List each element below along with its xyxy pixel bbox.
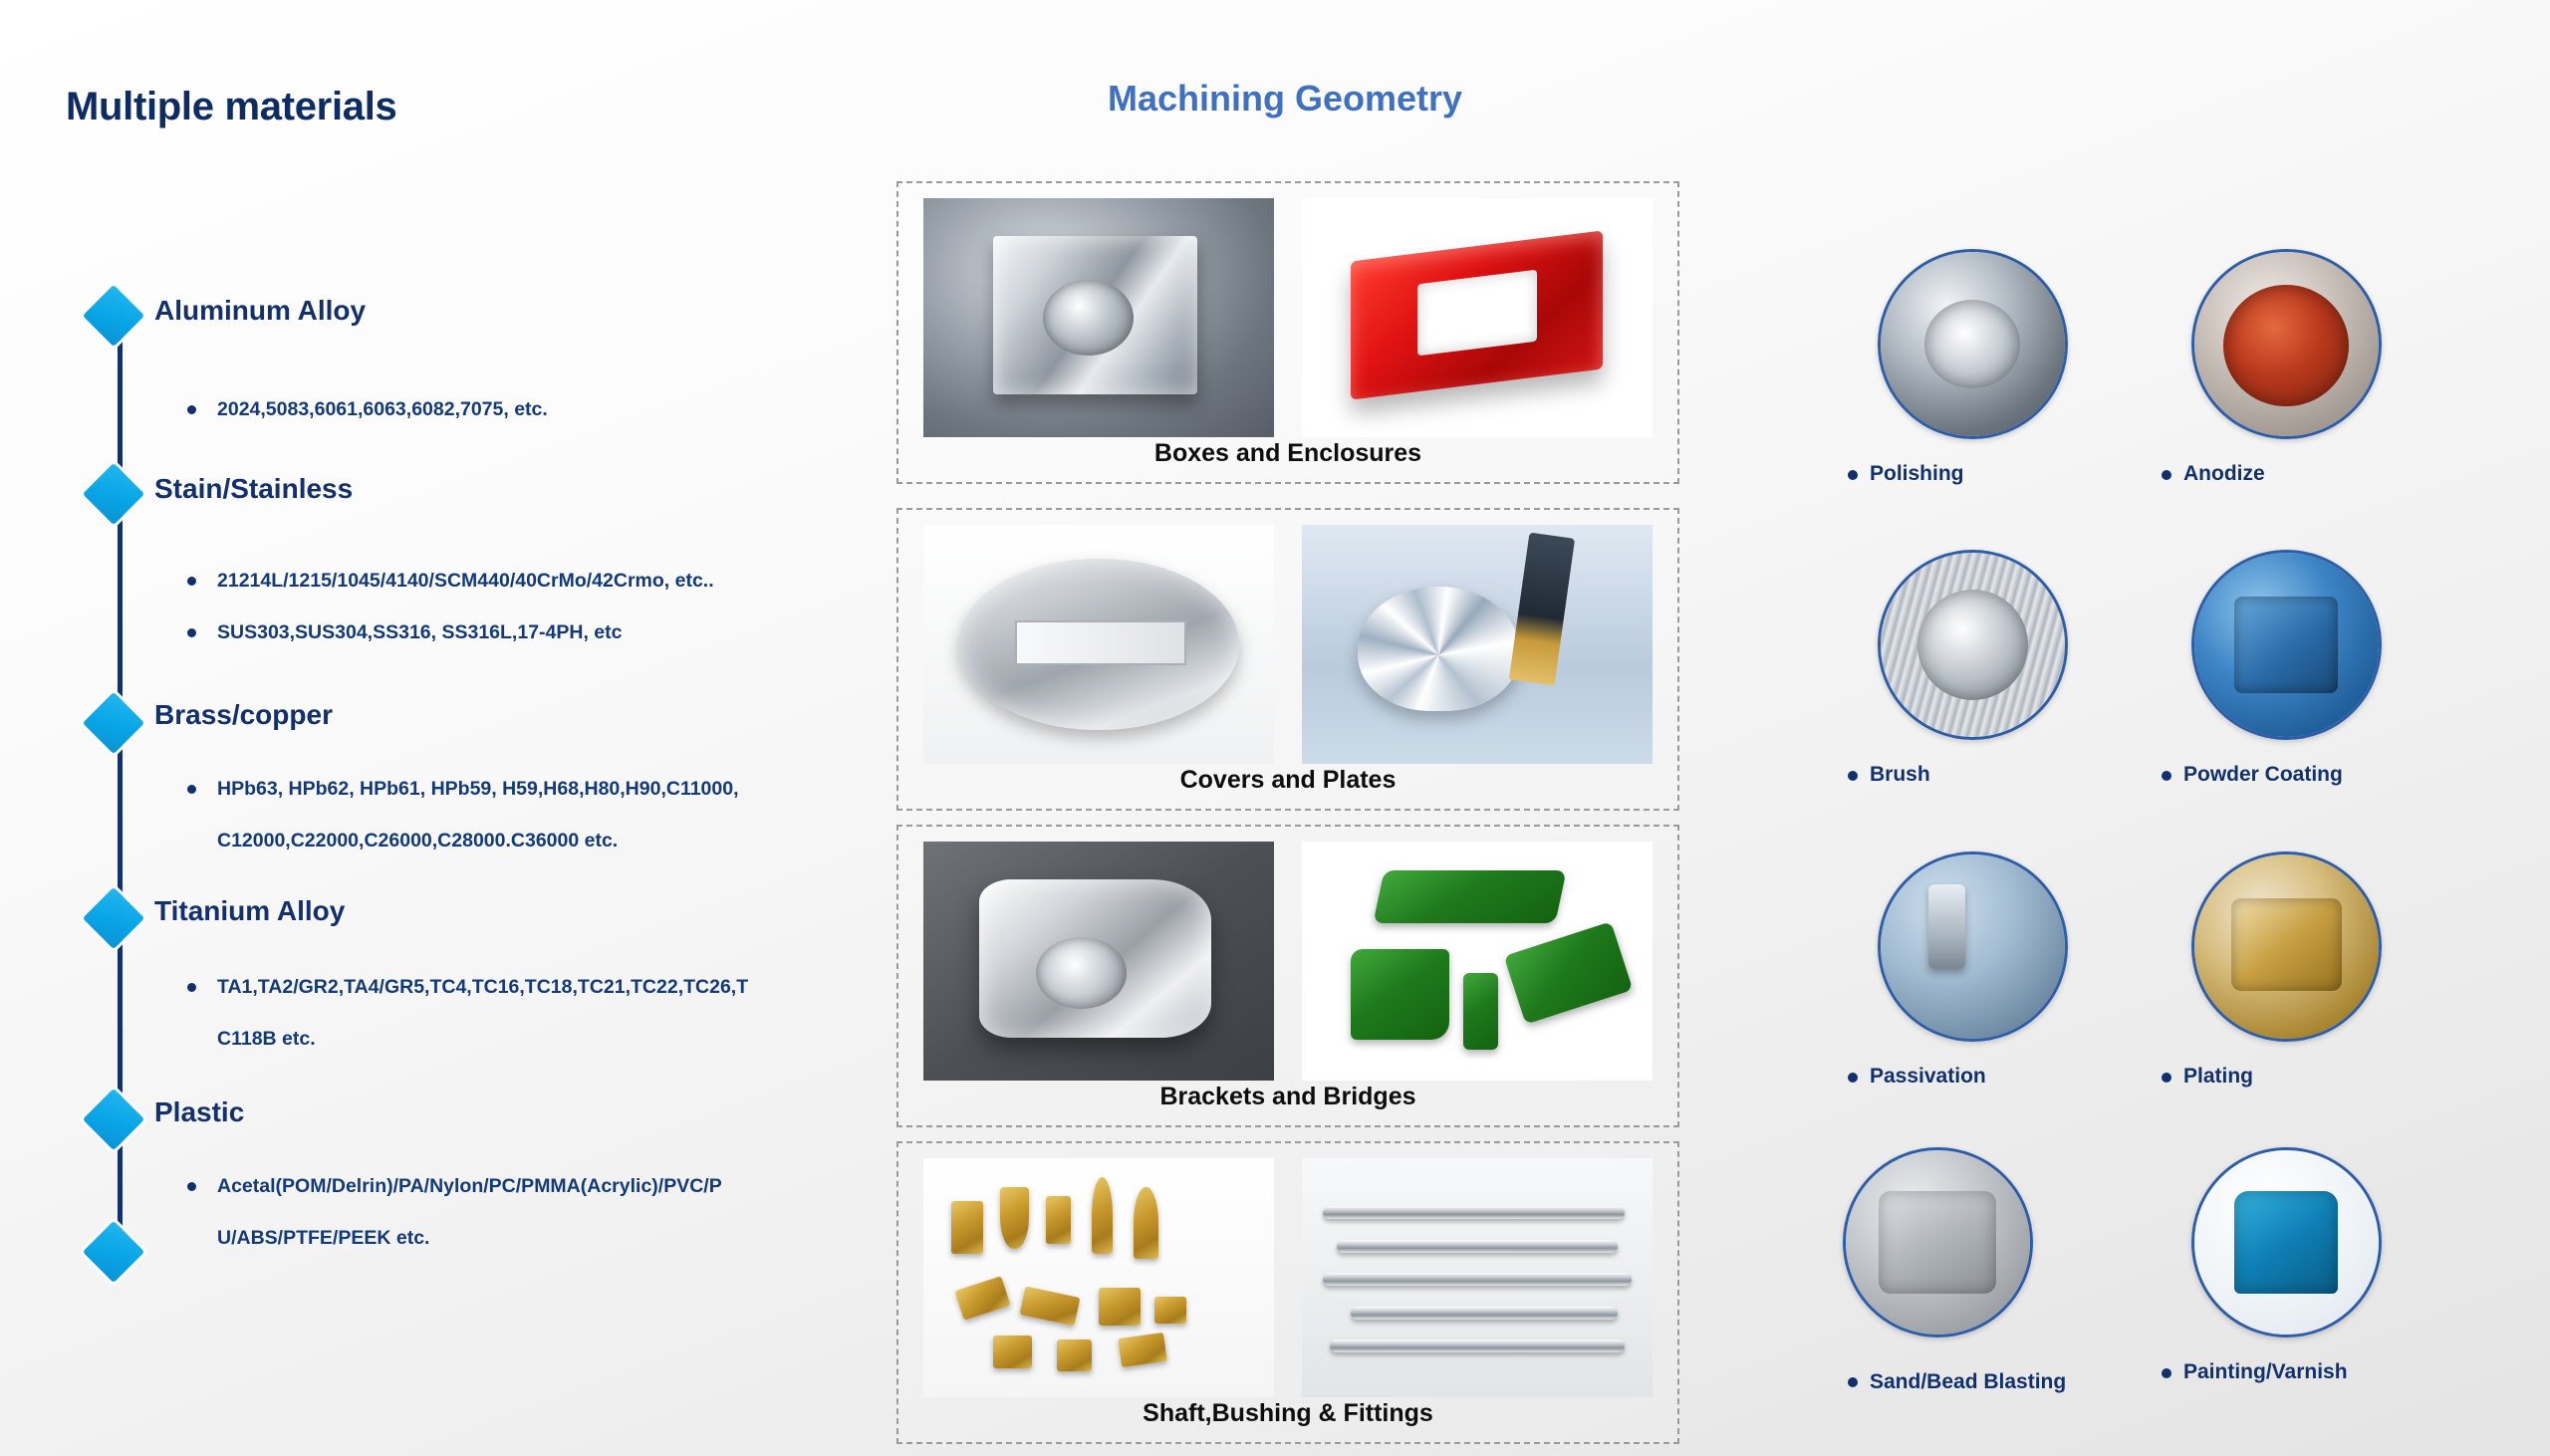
- red-anodized-enclosure-photo: [1302, 198, 1653, 437]
- finish-label: Sand/Bead Blasting: [1808, 1353, 2067, 1411]
- geometry-images: [898, 510, 1677, 762]
- red-anodized-part-photo: [2191, 249, 2382, 439]
- finish-label-text: Brush: [1870, 763, 1930, 786]
- list-item-text: TA1,TA2/GR2,TA4/GR5,TC4,TC16,TC18,TC21,T…: [217, 976, 748, 998]
- material-name: Titanium Alloy: [154, 895, 345, 927]
- diamond-marker-icon-end: [83, 1221, 144, 1283]
- bullet-dot-icon: [2162, 1368, 2171, 1378]
- bullet-dot-icon: [187, 785, 196, 794]
- material-bullets: 2024,5083,6061,6063,6082,7075, etc.: [179, 383, 837, 435]
- blue-powder-coated-parts-photo: [2191, 550, 2382, 740]
- diamond-marker-icon: [83, 692, 144, 754]
- list-item: 21214L/1215/1045/4140/SCM440/40CrMo/42Cr…: [179, 555, 837, 607]
- green-anodized-brackets-photo: [1302, 842, 1653, 1081]
- finish-label: Painting/Varnish: [2122, 1353, 2450, 1391]
- geometry-caption: Brackets and Bridges: [898, 1079, 1677, 1125]
- geometry-caption: Boxes and Enclosures: [898, 435, 1677, 482]
- material-bullets: Acetal(POM/Delrin)/PA/Nylon/PC/PMMA(Acry…: [179, 1160, 837, 1264]
- finish-label-text: Plating: [2183, 1065, 2253, 1088]
- material-name: Plastic: [154, 1096, 244, 1128]
- steel-shafts-photo: [1302, 1158, 1653, 1397]
- finish-item-anodize: Anodize: [2122, 249, 2450, 493]
- list-item-continuation: U/ABS/PTFE/PEEK etc.: [179, 1212, 837, 1264]
- list-item: SUS303,SUS304,SS316, SS316L,17-4PH, etc: [179, 607, 837, 658]
- finish-item-painting-varnish: Painting/Varnish: [2122, 1147, 2450, 1391]
- material-name: Stain/Stainless: [154, 473, 353, 505]
- list-item: 2024,5083,6061,6063,6082,7075, etc.: [179, 383, 837, 435]
- brushed-metal-part-photo: [1878, 550, 2068, 740]
- bullet-dot-icon: [187, 405, 196, 414]
- geometry-panel-brackets-and-bridges: Brackets and Bridges: [896, 825, 1679, 1127]
- finish-label-text: Powder Coating: [2183, 763, 2343, 786]
- impeller-milling-operation-photo: [1302, 525, 1653, 764]
- geometry-panel-covers-and-plates: Covers and Plates: [896, 508, 1679, 811]
- gold-plated-part-photo: [2191, 851, 2382, 1042]
- list-item: TA1,TA2/GR2,TA4/GR5,TC4,TC16,TC18,TC21,T…: [179, 961, 837, 1013]
- bead-blasted-plate-photo: [1843, 1147, 2033, 1337]
- finish-label-text: Anodize: [2183, 462, 2265, 485]
- finish-label: Polishing: [1808, 455, 2137, 493]
- bullet-dot-icon: [187, 577, 196, 586]
- geometry-caption: Shaft,Bushing & Fittings: [898, 1395, 1677, 1442]
- finish-item-plating: Plating: [2122, 851, 2450, 1095]
- finish-item-sand-bead-blasting: Sand/Bead Blasting: [1808, 1147, 2067, 1411]
- material-name: Brass/copper: [154, 699, 333, 731]
- machining-geometry-title: Machining Geometry: [877, 78, 1693, 120]
- bullet-dot-icon: [2162, 470, 2171, 480]
- bullet-dot-icon: [2162, 771, 2171, 781]
- finish-label: Passivation: [1808, 1058, 2137, 1095]
- material-bullets: TA1,TA2/GR2,TA4/GR5,TC4,TC16,TC18,TC21,T…: [179, 961, 837, 1065]
- list-item-text: C118B etc.: [217, 1028, 316, 1050]
- finish-item-polishing: Polishing: [1808, 249, 2137, 493]
- finish-label-text: Sand/Bead Blasting: [1870, 1370, 2066, 1393]
- material-name: Aluminum Alloy: [154, 295, 366, 327]
- list-item-continuation: C12000,C22000,C26000,C28000.C36000 etc.: [179, 815, 837, 866]
- bullet-dot-icon: [187, 1182, 196, 1191]
- diamond-marker-icon: [83, 1089, 144, 1150]
- round-machined-plate-photo: [923, 525, 1274, 764]
- geometry-caption: Covers and Plates: [898, 762, 1677, 809]
- list-item-text: HPb63, HPb62, HPb61, HPb59, H59,H68,H80,…: [217, 778, 739, 800]
- list-item-text: U/ABS/PTFE/PEEK etc.: [217, 1227, 429, 1249]
- bullet-dot-icon: [1848, 1073, 1858, 1083]
- finish-label: Plating: [2122, 1058, 2450, 1095]
- finish-item-passivation: Passivation: [1808, 851, 2137, 1095]
- geometry-images: [898, 1143, 1677, 1395]
- diamond-marker-icon: [83, 285, 144, 347]
- geometry-panel-shaft-bushing-fittings: Shaft,Bushing & Fittings: [896, 1141, 1679, 1444]
- bullet-dot-icon: [1848, 771, 1858, 781]
- material-bullets: 21214L/1215/1045/4140/SCM440/40CrMo/42Cr…: [179, 555, 837, 658]
- polished-metal-part-photo: [1878, 249, 2068, 439]
- material-bullets: HPb63, HPb62, HPb61, HPb59, H59,H68,H80,…: [179, 763, 837, 866]
- list-item-continuation: C118B etc.: [179, 1013, 837, 1065]
- finish-label-text: Passivation: [1870, 1065, 1986, 1088]
- list-item-text: C12000,C22000,C26000,C28000.C36000 etc.: [217, 830, 618, 851]
- finish-item-brush: Brush: [1808, 550, 2137, 794]
- list-item-text: 21214L/1215/1045/4140/SCM440/40CrMo/42Cr…: [217, 570, 714, 592]
- geometry-panel-boxes-and-enclosures: Boxes and Enclosures: [896, 181, 1679, 484]
- diamond-marker-icon: [83, 463, 144, 525]
- geometry-images: [898, 183, 1677, 435]
- aluminum-bracket-render-photo: [923, 842, 1274, 1081]
- materials-title: Multiple materials: [66, 85, 396, 129]
- bullet-dot-icon: [2162, 1073, 2171, 1083]
- finish-item-powder-coating: Powder Coating: [2122, 550, 2450, 794]
- finish-label: Brush: [1808, 756, 2137, 794]
- blue-painted-part-photo: [2191, 1147, 2382, 1337]
- list-item-text: SUS303,SUS304,SS316, SS316L,17-4PH, etc: [217, 621, 623, 643]
- list-item-text: Acetal(POM/Delrin)/PA/Nylon/PC/PMMA(Acry…: [217, 1175, 722, 1197]
- machining-geometry-column: Machining Geometry Boxes and Enclosures …: [877, 0, 1693, 1456]
- bullet-dot-icon: [187, 983, 196, 992]
- surface-finishes-column: Polishing Anodize Brush Powder Coating P…: [1783, 0, 2550, 1456]
- finish-label-text: Painting/Varnish: [2183, 1360, 2348, 1383]
- finish-label-text: Polishing: [1870, 462, 1964, 485]
- diamond-marker-icon: [83, 887, 144, 949]
- bullet-dot-icon: [1848, 1377, 1858, 1387]
- finish-label: Anodize: [2122, 455, 2450, 493]
- machined-aluminum-housing-photo: [923, 198, 1274, 437]
- list-item: Acetal(POM/Delrin)/PA/Nylon/PC/PMMA(Acry…: [179, 1160, 837, 1212]
- bullet-dot-icon: [1848, 470, 1858, 480]
- list-item: HPb63, HPb62, HPb61, HPb59, H59,H68,H80,…: [179, 763, 837, 815]
- materials-column: Multiple materials Aluminum Alloy 2024,5…: [0, 0, 877, 1456]
- brass-fittings-bushings-photo: [923, 1158, 1274, 1397]
- passivated-steel-parts-photo: [1878, 851, 2068, 1042]
- geometry-images: [898, 827, 1677, 1079]
- bullet-dot-icon: [187, 628, 196, 637]
- finish-label: Powder Coating: [2122, 756, 2450, 794]
- list-item-text: 2024,5083,6061,6063,6082,7075, etc.: [217, 398, 548, 420]
